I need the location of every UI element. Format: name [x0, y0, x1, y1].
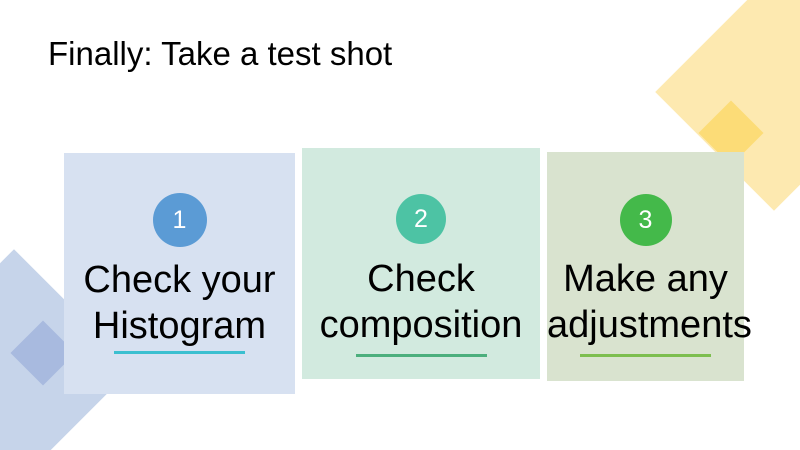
- slide-canvas: Finally: Take a test shot 1 Check your H…: [0, 0, 800, 450]
- step-label-3: Make any adjustments: [547, 256, 744, 348]
- page-title: Finally: Take a test shot: [48, 34, 392, 74]
- step-card-1: 1 Check your Histogram: [64, 153, 295, 394]
- step-underline-1: [114, 351, 245, 354]
- step-underline-3: [580, 354, 711, 357]
- step-label-1: Check your Histogram: [64, 257, 295, 349]
- step-number-badge-2: 2: [396, 194, 446, 244]
- step-underline-2: [356, 354, 487, 357]
- step-number-badge-3: 3: [620, 194, 672, 246]
- step-label-2: Check composition: [302, 256, 540, 348]
- step-number-badge-1: 1: [153, 193, 207, 247]
- step-card-2: 2 Check composition: [302, 148, 540, 379]
- step-card-3: 3 Make any adjustments: [547, 152, 744, 381]
